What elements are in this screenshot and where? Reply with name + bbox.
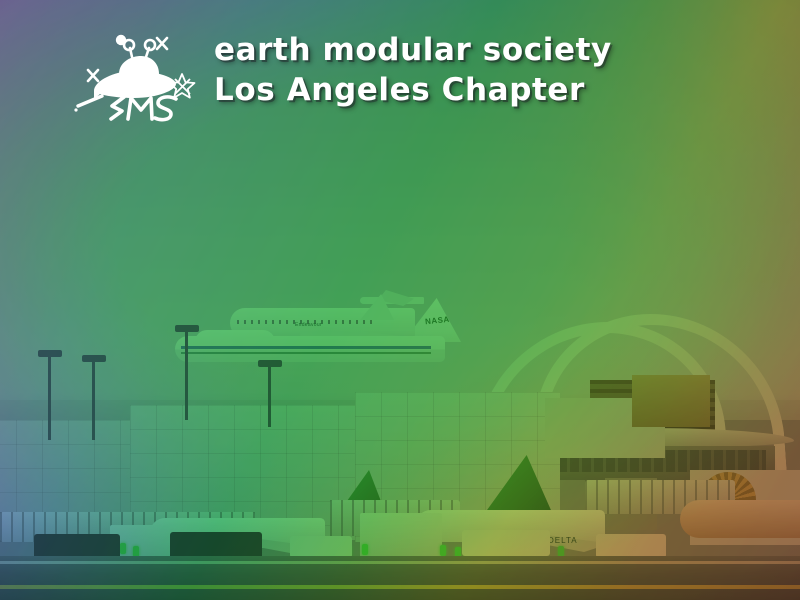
org-name-line2: Los Angeles Chapter (214, 70, 714, 110)
org-title-block: earth modular society Los Angeles Chapte… (214, 30, 714, 110)
poster-content: earth modular society Los Angeles Chapte… (0, 0, 800, 600)
org-name-line1: earth modular society (214, 30, 714, 70)
ufo-logo (72, 26, 200, 126)
motion-streak-icon (74, 96, 102, 112)
poster-canvas: NASA Endeavour (0, 0, 800, 600)
ufo-dome (119, 56, 159, 74)
page-title: LIVE STREAM TAKEOVER (36, 160, 776, 222)
headline-text: LIVE STREAM TAKEOVER (36, 160, 800, 222)
ufo-eyes (124, 40, 155, 57)
ufo-saucer (94, 71, 176, 99)
ems-monogram (111, 97, 176, 120)
ufo-icon (72, 26, 200, 126)
